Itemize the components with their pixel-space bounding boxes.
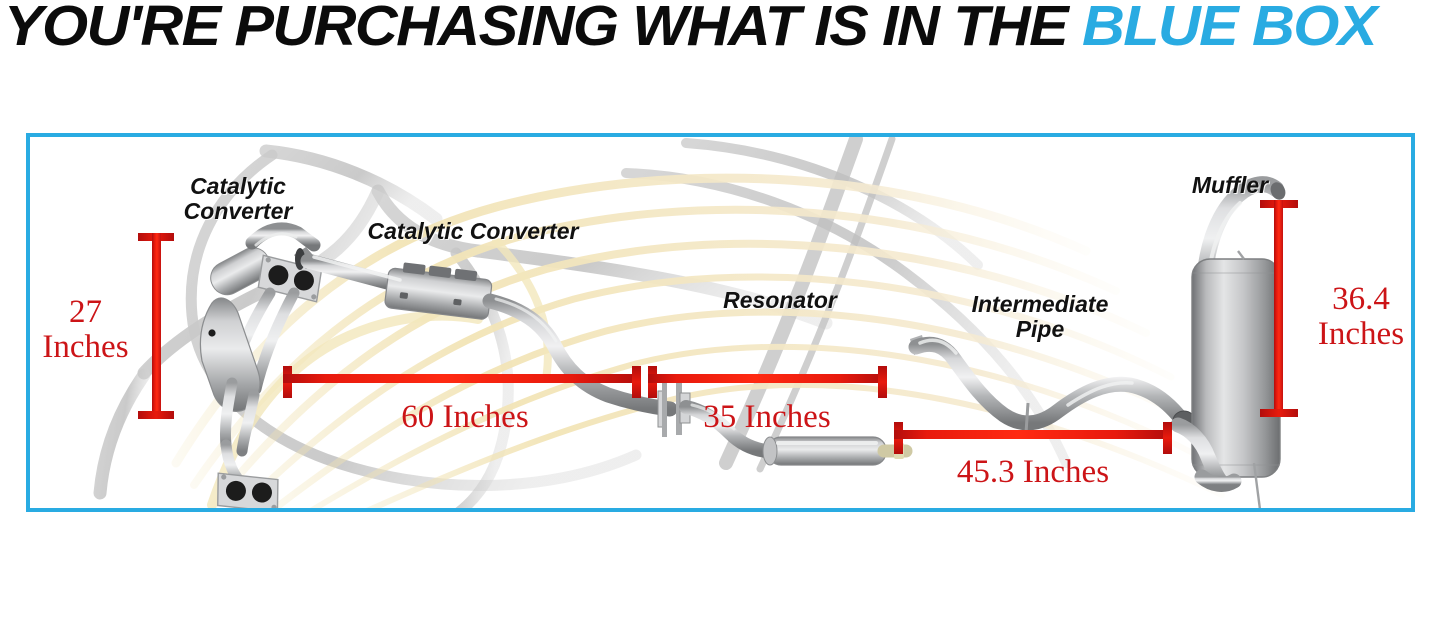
page-title-black-part: YOU'RE PURCHASING WHAT IS IN THE (4, 0, 1082, 58)
diagram-canvas: YOU'RE PURCHASING WHAT IS IN THE BLUE BO… (0, 0, 1445, 619)
page-title: YOU'RE PURCHASING WHAT IS IN THE BLUE BO… (4, 0, 1376, 56)
header-banner: YOU'RE PURCHASING WHAT IS IN THE BLUE BO… (0, 0, 1445, 60)
blue-box-highlight-border (26, 133, 1415, 512)
page-title-blue-part: BLUE BOX (1082, 0, 1376, 58)
